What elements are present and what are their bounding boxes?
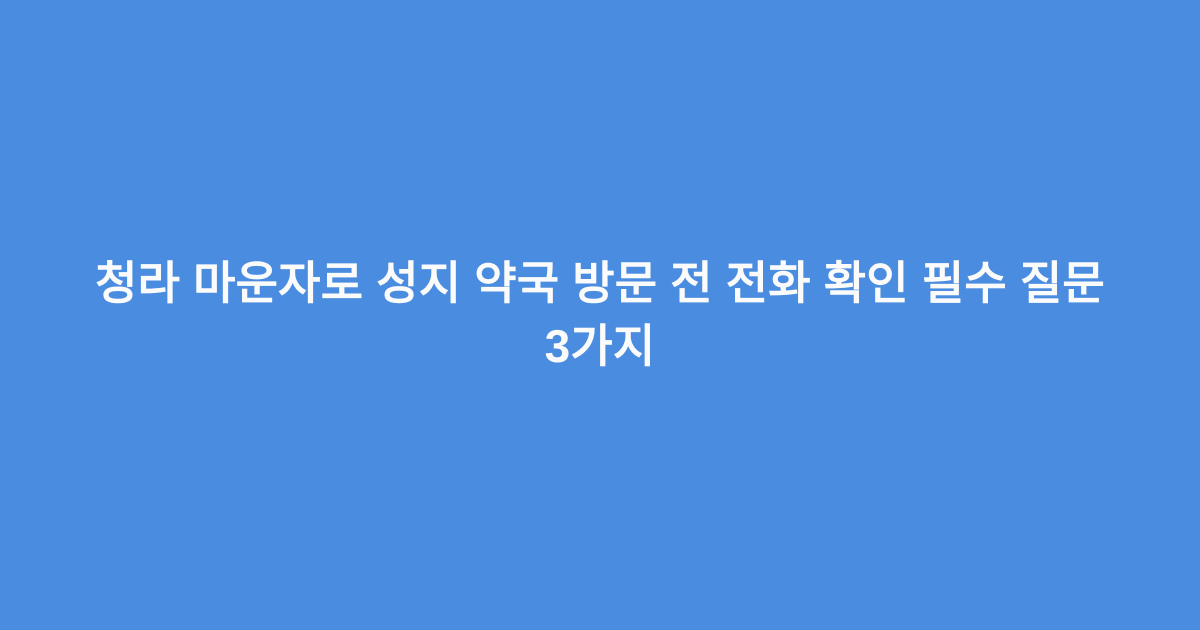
og-image-card: 청라 마운자로 성지 약국 방문 전 전화 확인 필수 질문 3가지 [0,0,1200,630]
page-title: 청라 마운자로 성지 약국 방문 전 전화 확인 필수 질문 3가지 [70,252,1130,378]
headline-block: 청라 마운자로 성지 약국 방문 전 전화 확인 필수 질문 3가지 [70,252,1130,378]
